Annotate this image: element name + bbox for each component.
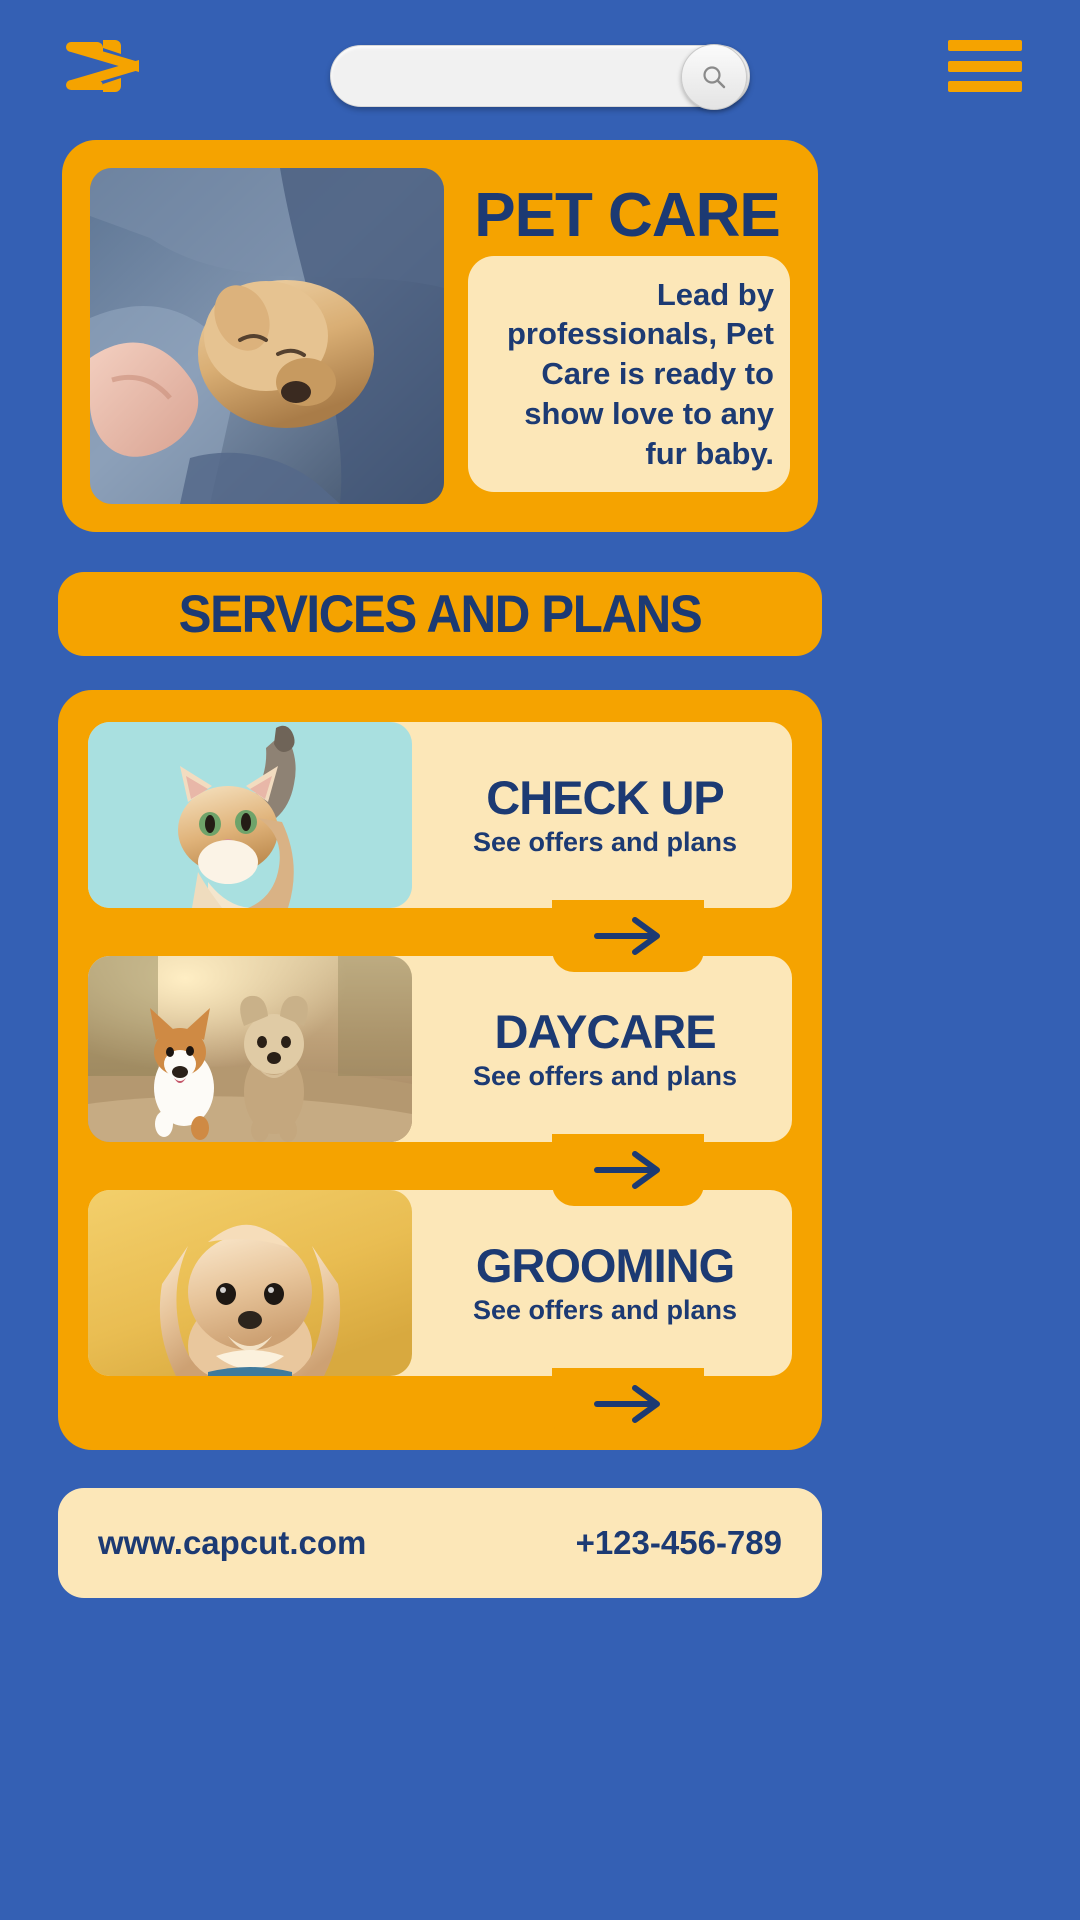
hamburger-bar-1	[948, 40, 1022, 51]
page-title: PET CARE	[462, 185, 792, 247]
search-icon	[699, 62, 729, 92]
service-subtitle: See offers and plans	[473, 1063, 737, 1090]
page-header	[0, 0, 1080, 130]
service-card-daycare[interactable]: DAYCARE See offers and plans	[88, 956, 792, 1156]
service-title: DAYCARE	[494, 1008, 715, 1055]
service-subtitle: See offers and plans	[473, 829, 737, 856]
search-button[interactable]	[681, 44, 747, 110]
service-image	[88, 956, 412, 1142]
hamburger-menu-icon[interactable]	[948, 40, 1022, 92]
page-footer: www.capcut.com +123-456-789	[58, 1488, 822, 1598]
service-image	[88, 722, 412, 908]
arrow-right-icon	[591, 916, 665, 956]
pet-care-landing-page: PET CARE Lead by professionals, Pet Care…	[0, 0, 1080, 1920]
hamburger-bar-3	[948, 81, 1022, 92]
arrow-right-icon	[591, 1150, 665, 1190]
service-card-grooming[interactable]: GROOMING See offers and plans	[88, 1190, 792, 1390]
service-image	[88, 1190, 412, 1376]
service-arrow-button[interactable]	[552, 1368, 704, 1440]
hero-description-box: Lead by professionals, Pet Care is ready…	[468, 256, 790, 492]
service-subtitle: See offers and plans	[473, 1297, 737, 1324]
hamburger-bar-2	[948, 61, 1022, 72]
hero-description-text: Lead by professionals, Pet Care is ready…	[486, 275, 774, 473]
hero-card: PET CARE Lead by professionals, Pet Care…	[62, 140, 818, 532]
service-text-block: DAYCARE See offers and plans	[418, 956, 792, 1142]
service-text-block: CHECK UP See offers and plans	[418, 722, 792, 908]
service-title: GROOMING	[476, 1242, 734, 1289]
service-card-check-up[interactable]: CHECK UP See offers and plans	[88, 722, 792, 922]
service-arrow-button[interactable]	[552, 1134, 704, 1206]
services-banner: SERVICES AND PLANS	[58, 572, 822, 656]
service-text-block: GROOMING See offers and plans	[418, 1190, 792, 1376]
service-title: CHECK UP	[486, 774, 723, 821]
capcut-logo[interactable]	[63, 38, 147, 94]
services-list: CHECK UP See offers and plans	[58, 690, 822, 1450]
footer-phone[interactable]: +123-456-789	[576, 1524, 782, 1562]
service-arrow-button[interactable]	[552, 900, 704, 972]
arrow-right-icon	[591, 1384, 665, 1424]
hero-image	[90, 168, 444, 504]
search-bar[interactable]	[330, 45, 750, 107]
footer-website[interactable]: www.capcut.com	[98, 1524, 366, 1562]
services-banner-title: SERVICES AND PLANS	[179, 584, 702, 645]
